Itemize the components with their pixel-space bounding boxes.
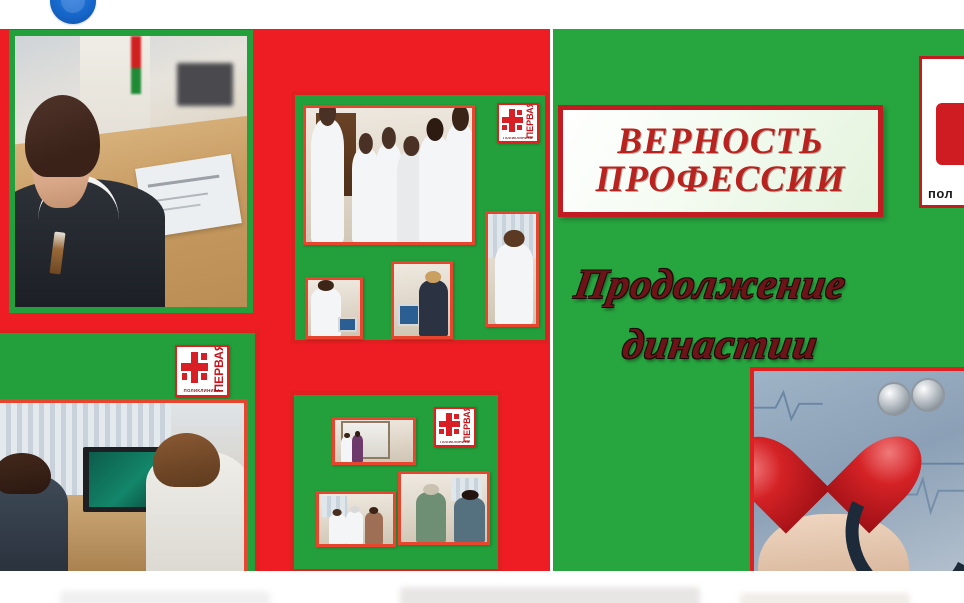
- preview-ghost: [740, 593, 910, 603]
- pervaya-polyclinic-logo: ПЕРВАЯ ПОЛИКЛИНИКА: [497, 103, 539, 143]
- pervaya-polyclinic-logo: ПЕРВАЯ ПОЛИКЛИНИКА: [175, 345, 229, 397]
- logo-word: ПЕРВАЯ: [463, 410, 472, 437]
- edge-card-caption: пол: [928, 186, 953, 201]
- workstation-panel[interactable]: ПЕРВАЯ ПОЛИКЛИНИКА: [0, 330, 260, 571]
- logo-word: ПЕРВАЯ: [213, 349, 225, 385]
- person-figure: [15, 101, 159, 307]
- photo-office-meeting[interactable]: [316, 491, 396, 547]
- photo-fill: [306, 108, 472, 242]
- photo-fill: [488, 214, 536, 324]
- nurse-figure: [146, 451, 248, 571]
- preview-ghost: [60, 591, 270, 603]
- photo-corridor[interactable]: [332, 417, 416, 465]
- logo-subtitle: ПОЛИКЛИНИКА: [499, 137, 537, 140]
- red-shape: [936, 103, 964, 165]
- clinic-rooms-collage[interactable]: ПЕРВАЯ ПОЛИКЛИНИКА: [290, 391, 502, 571]
- photo-nurse-desk[interactable]: [485, 211, 539, 327]
- red-cross-icon: [439, 413, 460, 436]
- photo-fill: [401, 474, 487, 542]
- staff-meeting-collage[interactable]: ПЕРВАЯ ПОЛИКЛИНИКА: [291, 91, 549, 344]
- photo-fill: [308, 280, 360, 336]
- photo-staff-group[interactable]: [303, 105, 475, 245]
- photo-computer-work[interactable]: [0, 399, 248, 571]
- logo-subtitle: ПОЛИКЛИНИКА: [436, 441, 474, 444]
- title-slide[interactable]: ВЕРНОСТЬ ПРОФЕССИИ Продолжение династии: [553, 29, 964, 571]
- logo-word: ПЕРВАЯ: [526, 106, 535, 133]
- cut-off-logo-card[interactable]: пол: [919, 56, 964, 208]
- monitor-shape: [177, 63, 233, 106]
- browser-circle-icon[interactable]: [50, 0, 96, 24]
- logo-subtitle: ПОЛИКЛИНИКА: [177, 389, 227, 393]
- photo-doctor-patient[interactable]: [398, 471, 490, 545]
- photo-collage-slide[interactable]: ПЕРВАЯ ПОЛИКЛИНИКА: [0, 29, 550, 571]
- subtitle-line-1: Продолжение: [571, 261, 849, 309]
- portrait-photo: [15, 36, 247, 307]
- hair-shape: [25, 95, 100, 177]
- flag-shape: [131, 36, 141, 94]
- slide-viewer: ПЕРВАЯ ПОЛИКЛИНИКА: [0, 0, 964, 603]
- red-cross-icon: [181, 352, 208, 383]
- stethoscope-head-icon: [877, 378, 951, 426]
- photo-fill: [394, 264, 450, 336]
- next-slide-preview[interactable]: [0, 571, 964, 603]
- title-line-2: ПРОФЕССИИ: [595, 161, 845, 199]
- title-card: ВЕРНОСТЬ ПРОФЕССИИ: [558, 105, 883, 217]
- photo-fill: [319, 494, 393, 544]
- title-line-1: ВЕРНОСТЬ: [617, 123, 823, 161]
- heart-stethoscope-photo[interactable]: [750, 367, 964, 571]
- subtitle-line-2: династии: [619, 321, 821, 369]
- portrait-panel[interactable]: [9, 30, 253, 313]
- pervaya-polyclinic-logo: ПЕРВАЯ ПОЛИКЛИНИКА: [434, 407, 476, 447]
- patient-figure: [0, 474, 68, 571]
- red-cross-icon: [502, 109, 523, 132]
- preview-ghost: [400, 587, 700, 603]
- photo-fill: [335, 420, 413, 462]
- photo-consult-small[interactable]: [305, 277, 363, 339]
- photo-child-patient[interactable]: [391, 261, 453, 339]
